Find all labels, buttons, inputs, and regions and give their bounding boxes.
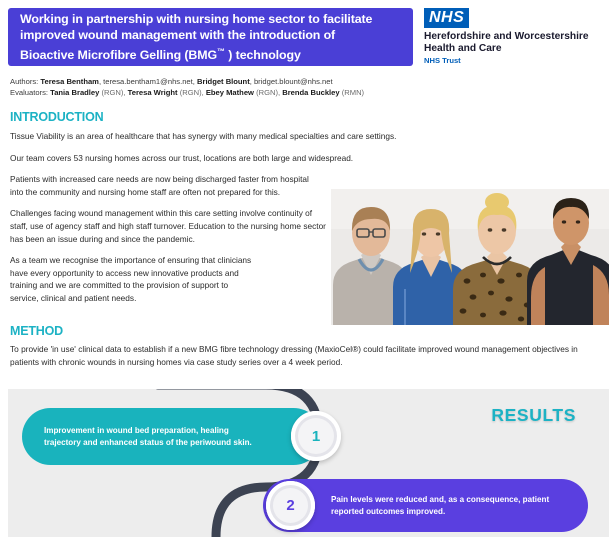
authors-label: Authors: (10, 77, 38, 86)
result-item-2-text: Pain levels were reduced and, as a conse… (331, 494, 568, 516)
introduction-paragraph: Challenges facing wound management withi… (10, 207, 328, 245)
evaluator-2-credential: (RGN), (178, 88, 206, 97)
introduction-paragraph: Tissue Viability is an area of healthcar… (10, 130, 530, 143)
poster-title: Working in partnership with nursing home… (20, 11, 372, 63)
evaluator-3-credential: (RGN), (254, 88, 282, 97)
result-item-1: Improvement in wound bed preparation, he… (22, 408, 322, 465)
poster-title-line-2: improved wound management with the intro… (20, 28, 335, 42)
evaluator-1-name: Tania Bradley (50, 88, 99, 97)
nhs-trust-subtitle: NHS Trust (424, 56, 602, 65)
introduction-paragraph: Our team covers 53 nursing homes across … (10, 152, 530, 165)
result-badge-2: 2 (266, 481, 315, 530)
result-badge-1: 1 (291, 411, 341, 461)
results-panel: RESULTS Improvement in wound bed prepara… (8, 389, 609, 537)
method-heading: METHOD (10, 324, 63, 338)
evaluator-3-name: Ebey Mathew (206, 88, 254, 97)
evaluator-4-name: Brenda Buckley (282, 88, 339, 97)
results-heading: RESULTS (491, 405, 576, 426)
method-body: To provide 'in use' clinical data to est… (10, 343, 585, 368)
author-2-name: Bridget Blount (197, 77, 250, 86)
evaluators-line: Evaluators: Tania Bradley (RGN), Teresa … (10, 87, 480, 98)
introduction-heading: INTRODUCTION (10, 110, 103, 124)
team-photo-illustration (331, 189, 609, 325)
poster-title-line-1: Working in partnership with nursing home… (20, 12, 372, 26)
authors-line: Authors: Teresa Bentham, teresa.bentham1… (10, 76, 480, 87)
team-photo (331, 189, 609, 325)
author-1-email: , teresa.bentham1@nhs.net, (99, 77, 197, 86)
evaluator-4-credential: (RMN) (340, 88, 364, 97)
nhs-badge: NHS (424, 8, 469, 28)
authors-block: Authors: Teresa Bentham, teresa.bentham1… (10, 76, 480, 98)
evaluator-1-credential: (RGN), (99, 88, 127, 97)
nhs-logo: NHS Herefordshire and Worcestershire Hea… (424, 8, 602, 65)
poster-header: Working in partnership with nursing home… (0, 0, 609, 72)
result-item-1-text: Improvement in wound bed preparation, he… (44, 425, 264, 447)
method-paragraph: To provide 'in use' clinical data to est… (10, 343, 585, 368)
poster-title-line-3: Bioactive Microfibre Gelling (BMG™ ) tec… (20, 48, 301, 62)
poster-title-block: Working in partnership with nursing home… (8, 8, 413, 66)
evaluators-label: Evaluators: (10, 88, 48, 97)
author-1-name: Teresa Bentham (40, 77, 99, 86)
introduction-paragraph: Patients with increased care needs are n… (10, 173, 310, 198)
evaluator-2-name: Teresa Wright (128, 88, 178, 97)
introduction-paragraph: As a team we recognise the importance of… (10, 254, 256, 304)
author-2-email: , bridget.blount@nhs.net (250, 77, 333, 86)
nhs-trust-name: Herefordshire and Worcestershire Health … (424, 31, 606, 54)
